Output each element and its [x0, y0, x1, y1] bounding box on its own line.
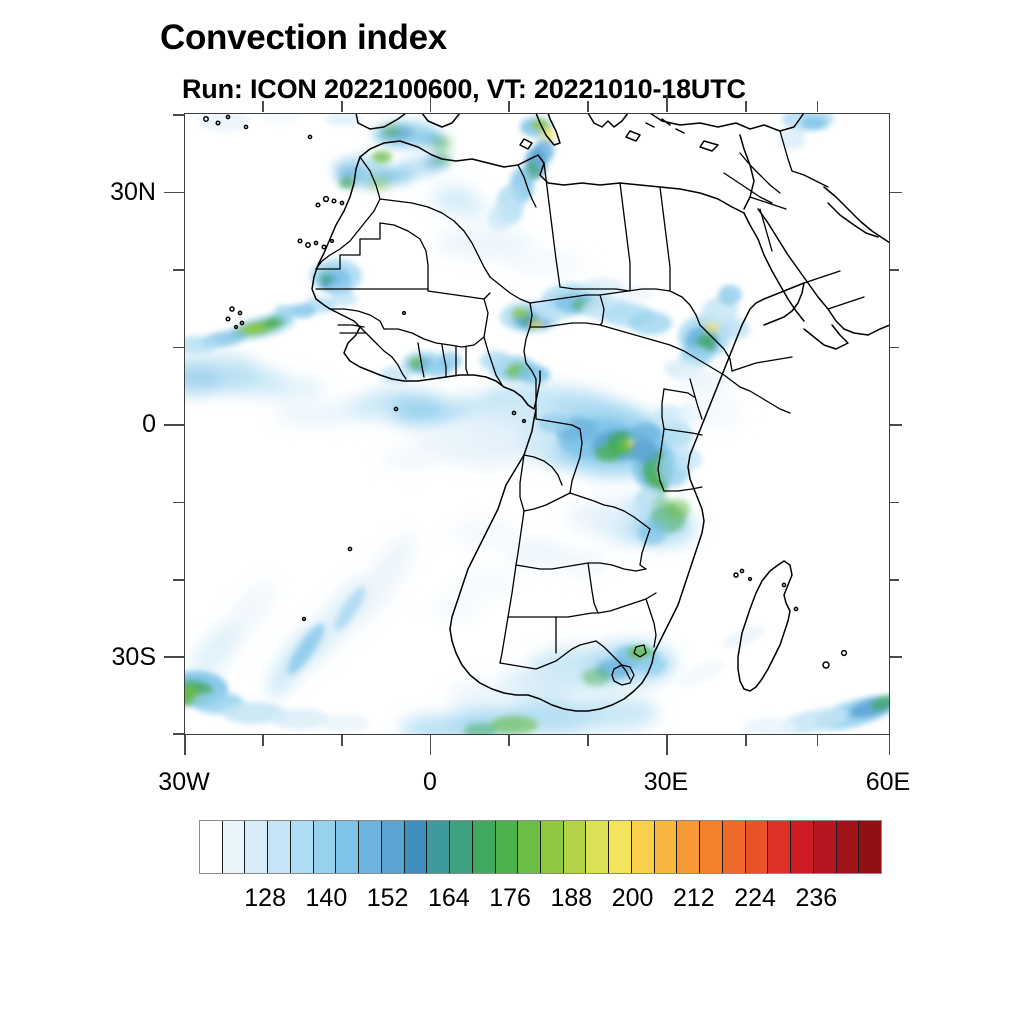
colorbar-segment [859, 821, 881, 873]
colorbar-segment [768, 821, 791, 873]
xtick-label-30e: 30E [616, 768, 716, 797]
colorbar-segment [518, 821, 541, 873]
xtick-label-30w: 30W [134, 768, 234, 797]
colorbar-segment [837, 821, 860, 873]
colorbar-segment [291, 821, 314, 873]
colorbar-segment [405, 821, 428, 873]
colorbar-tick-label: 212 [673, 884, 715, 913]
colorbar-segment [791, 821, 814, 873]
colorbar-tick-label: 164 [428, 884, 470, 913]
colorbar-tick-label: 236 [795, 884, 837, 913]
colorbar-segment [223, 821, 246, 873]
colorbar-segment [427, 821, 450, 873]
ytick-label-30s: 30S [60, 643, 156, 672]
colorbar-segment [609, 821, 632, 873]
colorbar-segment [245, 821, 268, 873]
colorbar-tick-label: 128 [244, 884, 286, 913]
colorbar-segment [268, 821, 291, 873]
colorbar-segment [496, 821, 519, 873]
xtick-label-0: 0 [380, 768, 480, 797]
colorbar-segment [746, 821, 769, 873]
figure-canvas: Convection index Run: ICON 2022100600, V… [0, 0, 1024, 1024]
page-title: Convection index [160, 18, 447, 58]
colorbar-segment [450, 821, 473, 873]
colorbar-tick-label: 188 [550, 884, 592, 913]
colorbar-segment [473, 821, 496, 873]
map-canvas [184, 113, 890, 735]
colorbar-segment [677, 821, 700, 873]
colorbar-segment [632, 821, 655, 873]
colorbar-segment [723, 821, 746, 873]
map-plot-area [184, 113, 890, 735]
colorbar-segment [586, 821, 609, 873]
colorbar-tick-label: 224 [734, 884, 776, 913]
colorbar-tick-labels: 128140152164176188200212224236 [199, 884, 880, 916]
colorbar-tick-label: 176 [489, 884, 531, 913]
ytick-label-0: 0 [60, 410, 156, 439]
xtick-label-60e: 60E [838, 768, 938, 797]
colorbar-segment [359, 821, 382, 873]
colorbar-segment [541, 821, 564, 873]
colorbar-segment [700, 821, 723, 873]
colorbar-segment [655, 821, 678, 873]
colorbar-tick-label: 200 [612, 884, 654, 913]
colorbar-segment [564, 821, 587, 873]
colorbar-segment [200, 821, 223, 873]
colorbar-segment [814, 821, 837, 873]
colorbar-tick-label: 140 [306, 884, 348, 913]
colorbar-tick-label: 152 [367, 884, 409, 913]
colorbar-segment [314, 821, 337, 873]
colorbar[interactable] [199, 820, 882, 874]
figure-subtitle: Run: ICON 2022100600, VT: 20221010-18UTC [182, 74, 746, 105]
ytick-label-30n: 30N [60, 178, 156, 207]
colorbar-segment [382, 821, 405, 873]
colorbar-segment [336, 821, 359, 873]
